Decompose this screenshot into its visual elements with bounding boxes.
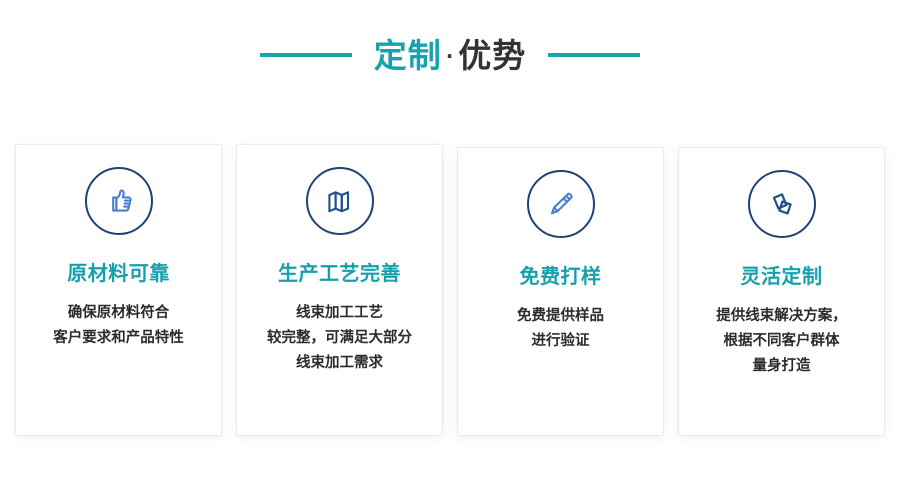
- advantage-card-free-sample[interactable]: 免费打样 免费提供样品 进行验证: [458, 148, 663, 435]
- advantage-card-flexible-custom[interactable]: 灵活定制 提供线束解决方案， 根据不同客户群体 量身打造: [679, 148, 884, 435]
- card-body: 免费提供样品 进行验证: [517, 304, 604, 354]
- card-body: 线束加工工艺 较完整，可满足大部分 线束加工需求: [267, 301, 412, 376]
- icon-circle: [85, 167, 153, 235]
- card-title: 原材料可靠: [67, 261, 170, 285]
- card-body: 确保原材料符合 客户要求和产品特性: [53, 301, 184, 351]
- title-main-text: 定制: [374, 36, 442, 75]
- icon-circle: [527, 170, 595, 238]
- pencil-icon: [542, 185, 580, 223]
- title-sub-text: 优势: [458, 36, 526, 75]
- title-rule-left: [260, 53, 352, 57]
- card-title: 生产工艺完善: [278, 261, 401, 285]
- advantage-card-list: 原材料可靠 确保原材料符合 客户要求和产品特性 生产工艺完善 线束加工工艺 较完…: [16, 145, 884, 435]
- stacked-cards-icon: [763, 185, 801, 223]
- icon-circle: [748, 170, 816, 238]
- card-title: 免费打样: [520, 264, 602, 288]
- title-rule-right: [548, 53, 640, 57]
- advantages-section: 定制·优势 原材料可靠 确保原材料符合 客户要求和产品特性: [0, 0, 900, 499]
- page-title: 定制·优势: [374, 39, 527, 72]
- section-title-row: 定制·优势: [0, 24, 900, 86]
- title-separator-dot: ·: [442, 44, 459, 68]
- advantage-card-production-process[interactable]: 生产工艺完善 线束加工工艺 较完整，可满足大部分 线束加工需求: [237, 145, 442, 435]
- card-body: 提供线束解决方案， 根据不同客户群体 量身打造: [716, 304, 847, 379]
- icon-circle: [306, 167, 374, 235]
- thumbs-up-icon: [100, 182, 138, 220]
- folded-map-icon: [321, 182, 359, 220]
- advantage-card-raw-material[interactable]: 原材料可靠 确保原材料符合 客户要求和产品特性: [16, 145, 221, 435]
- card-title: 灵活定制: [741, 264, 823, 288]
